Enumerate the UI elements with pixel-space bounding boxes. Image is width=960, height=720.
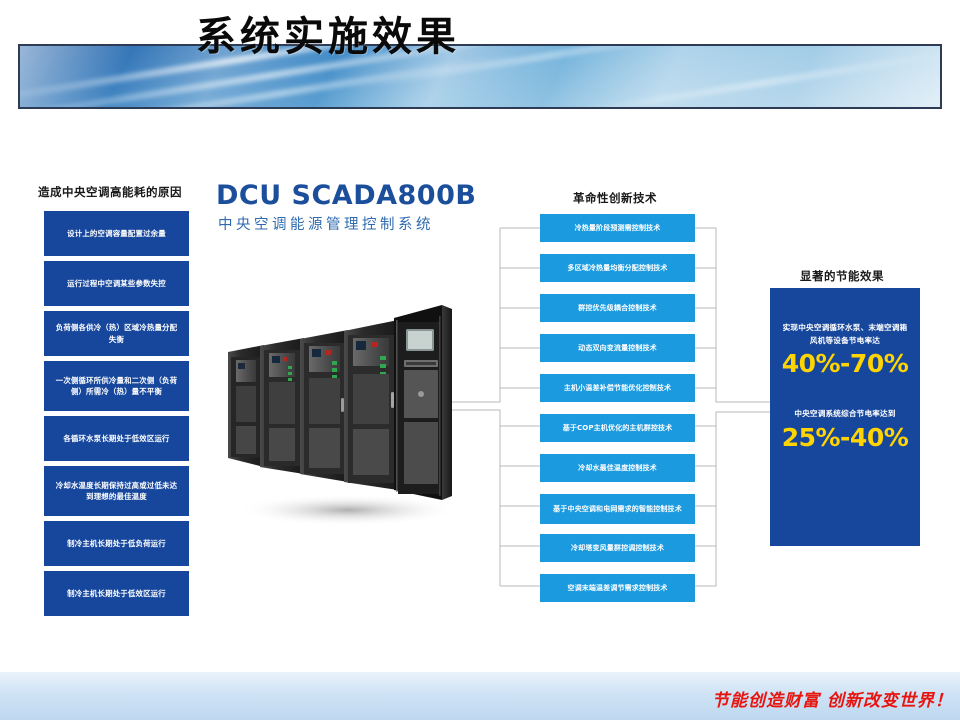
control-cabinet-image bbox=[228, 262, 458, 562]
tech-label: 多区域冷热量均衡分配控制技术 bbox=[567, 263, 667, 274]
tech-label: 群控优先级耦合控制技术 bbox=[578, 303, 657, 314]
tech-item-8: 基于中央空调和电网需求的智能控制技术 bbox=[540, 494, 695, 524]
product-name: DCU SCADA800B bbox=[216, 180, 476, 211]
cause-item-3: 负荷侧各供冷（热）区域冷热量分配失衡 bbox=[44, 311, 189, 356]
cause-item-1: 设计上的空调容量配置过余量 bbox=[44, 211, 189, 256]
tech-label: 冷却水最佳温度控制技术 bbox=[578, 463, 657, 474]
technologies-header: 革命性创新技术 bbox=[573, 190, 657, 206]
cause-label: 各循环水泵长期处于低效区运行 bbox=[63, 433, 169, 444]
cause-item-2: 运行过程中空调某些参数失控 bbox=[44, 261, 189, 306]
tech-item-4: 动态双向变流量控制技术 bbox=[540, 334, 695, 362]
tech-item-10: 空调末端温差调节需求控制技术 bbox=[540, 574, 695, 602]
tech-item-7: 冷却水最佳温度控制技术 bbox=[540, 454, 695, 482]
tech-label: 空调末端温差调节需求控制技术 bbox=[567, 583, 667, 594]
tech-label: 基于COP主机优化的主机群控技术 bbox=[563, 423, 673, 434]
cause-item-6: 冷却水温度长期保持过高或过低未达到理想的最佳温度 bbox=[44, 466, 189, 516]
cause-label: 制冷主机长期处于低效区运行 bbox=[67, 588, 166, 599]
effect-figure-1: 40%-70% bbox=[781, 349, 909, 378]
tech-item-1: 冷热量阶段预测需控制技术 bbox=[540, 214, 695, 242]
tech-item-2: 多区域冷热量均衡分配控制技术 bbox=[540, 254, 695, 282]
causes-header: 造成中央空调高能耗的原因 bbox=[38, 184, 182, 200]
cause-label: 设计上的空调容量配置过余量 bbox=[67, 228, 166, 239]
cause-item-4: 一次侧循环所供冷量和二次侧（负荷侧）所需冷（热）量不平衡 bbox=[44, 361, 189, 411]
slide-title: 系统实施效果 bbox=[196, 4, 460, 62]
cause-label: 一次侧循环所供冷量和二次侧（负荷侧）所需冷（热）量不平衡 bbox=[53, 375, 180, 398]
tech-item-5: 主机小温差补偿节能优化控制技术 bbox=[540, 374, 695, 402]
effect-text-2: 中央空调系统综合节电率达到 bbox=[781, 408, 909, 421]
tech-label: 冷却塔变风量群控调控制技术 bbox=[571, 543, 664, 554]
effects-header: 显著的节能效果 bbox=[800, 268, 884, 284]
effects-panel: 实现中央空调循环水泵、末端空调箱风机等设备节电率达 40%-70% 中央空调系统… bbox=[770, 288, 920, 546]
tech-item-6: 基于COP主机优化的主机群控技术 bbox=[540, 414, 695, 442]
cause-item-5: 各循环水泵长期处于低效区运行 bbox=[44, 416, 189, 461]
cause-label: 冷却水温度长期保持过高或过低未达到理想的最佳温度 bbox=[53, 480, 180, 503]
tech-label: 基于中央空调和电网需求的智能控制技术 bbox=[553, 504, 682, 515]
tech-item-9: 冷却塔变风量群控调控制技术 bbox=[540, 534, 695, 562]
product-subtitle: 中央空调能源管理控制系统 bbox=[218, 213, 434, 234]
cause-label: 制冷主机长期处于低负荷运行 bbox=[67, 538, 166, 549]
tech-label: 动态双向变流量控制技术 bbox=[578, 343, 657, 354]
tech-label: 主机小温差补偿节能优化控制技术 bbox=[564, 383, 671, 394]
cause-item-7: 制冷主机长期处于低负荷运行 bbox=[44, 521, 189, 566]
tech-label: 冷热量阶段预测需控制技术 bbox=[575, 223, 661, 234]
footer-slogan: 节能创造财富 创新改变世界！ bbox=[712, 686, 953, 711]
title-banner bbox=[18, 44, 942, 109]
cause-label: 负荷侧各供冷（热）区域冷热量分配失衡 bbox=[53, 322, 180, 345]
tech-item-3: 群控优先级耦合控制技术 bbox=[540, 294, 695, 322]
effect-figure-2: 25%-40% bbox=[781, 423, 909, 452]
cause-item-8: 制冷主机长期处于低效区运行 bbox=[44, 571, 189, 616]
effect-text-1: 实现中央空调循环水泵、末端空调箱风机等设备节电率达 bbox=[781, 322, 909, 347]
cause-label: 运行过程中空调某些参数失控 bbox=[67, 278, 166, 289]
